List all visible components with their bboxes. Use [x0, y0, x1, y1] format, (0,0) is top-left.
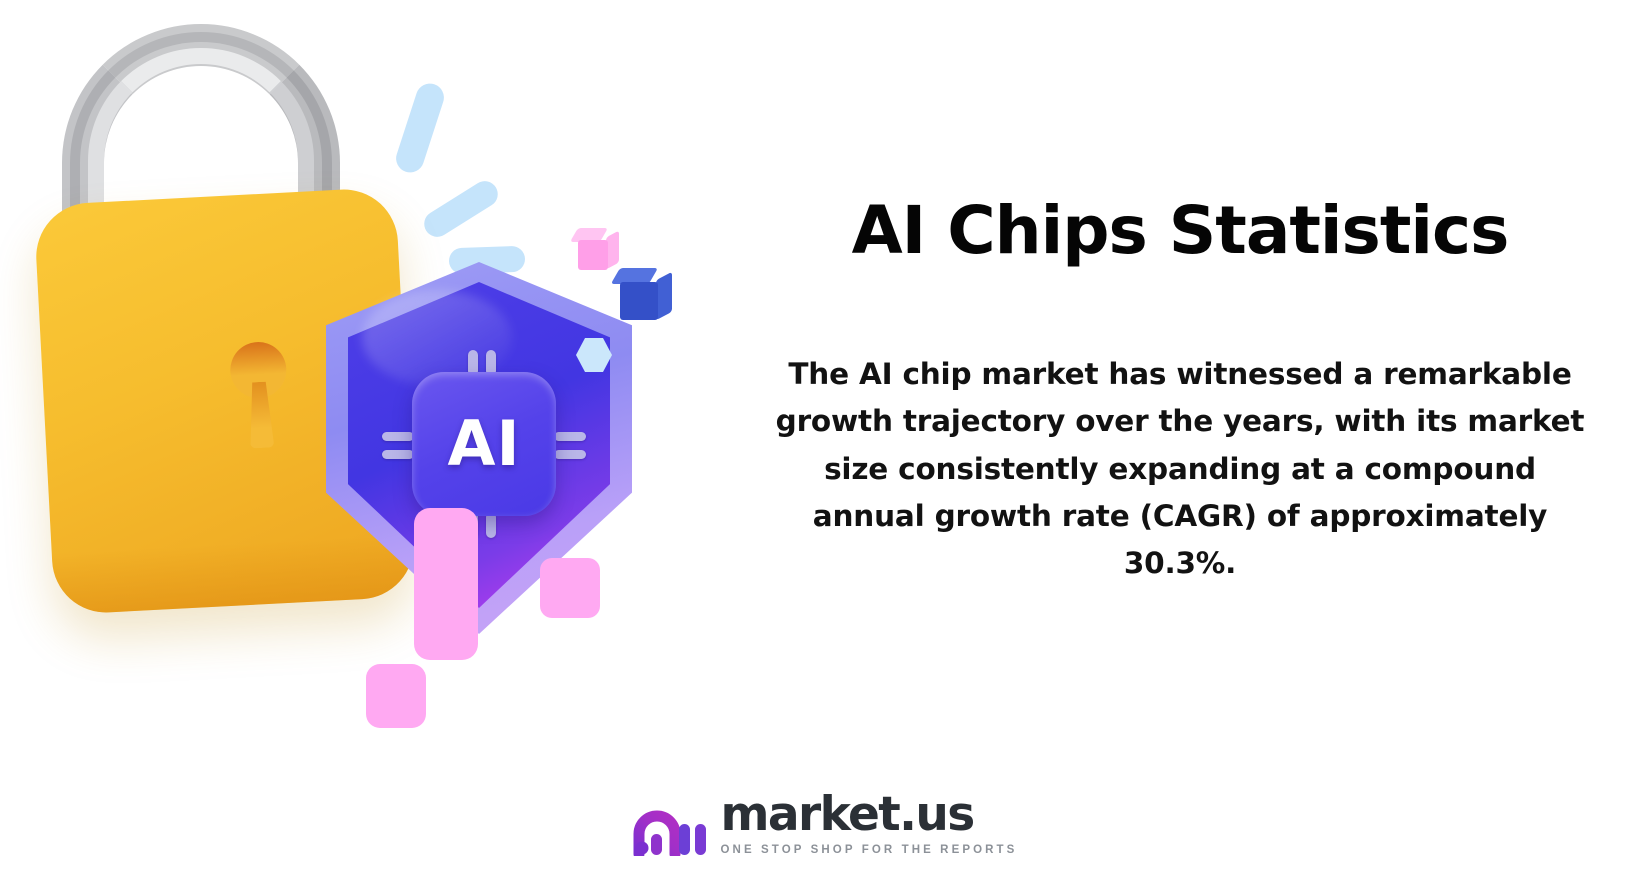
brand-tagline: ONE STOP SHOP FOR THE REPORTS: [721, 844, 1018, 856]
chip-pin-icon: [554, 450, 586, 459]
pink-accent-rect: [540, 558, 600, 618]
chip-pin-icon: [554, 432, 586, 441]
infographic-canvas: AI AI Chips Statistics The AI chip marke…: [0, 0, 1650, 880]
blue-cube-icon: [620, 268, 676, 326]
pink-accent-rect: [366, 664, 426, 728]
cube-front-face: [620, 282, 658, 320]
page-title: AI Chips Statistics: [852, 196, 1509, 265]
cube-front-face: [578, 240, 608, 270]
description-text: The AI chip market has witnessed a remar…: [774, 351, 1586, 587]
pink-accent-rect: [414, 508, 478, 660]
text-content-block: AI Chips Statistics The AI chip market h…: [740, 0, 1620, 700]
ai-chip-label: AI: [447, 413, 520, 475]
chip-pin-icon: [382, 450, 414, 459]
pink-cube-icon: [578, 228, 620, 272]
brand-text: market.us ONE STOP SHOP FOR THE REPORTS: [721, 791, 1018, 856]
brand-name: market.us: [721, 791, 974, 838]
sparkle-dash-icon: [392, 80, 447, 176]
chip-pin-icon: [382, 432, 414, 441]
brand-logo[interactable]: market.us ONE STOP SHOP FOR THE REPORTS: [0, 791, 1650, 856]
sparkle-dash-icon: [419, 176, 502, 242]
keyhole-icon: [229, 341, 291, 464]
ai-chip-icon: AI: [412, 372, 556, 516]
ai-chips-illustration: AI: [0, 0, 720, 770]
market-us-logo-icon: [633, 798, 707, 856]
cube-side-face: [656, 272, 672, 321]
